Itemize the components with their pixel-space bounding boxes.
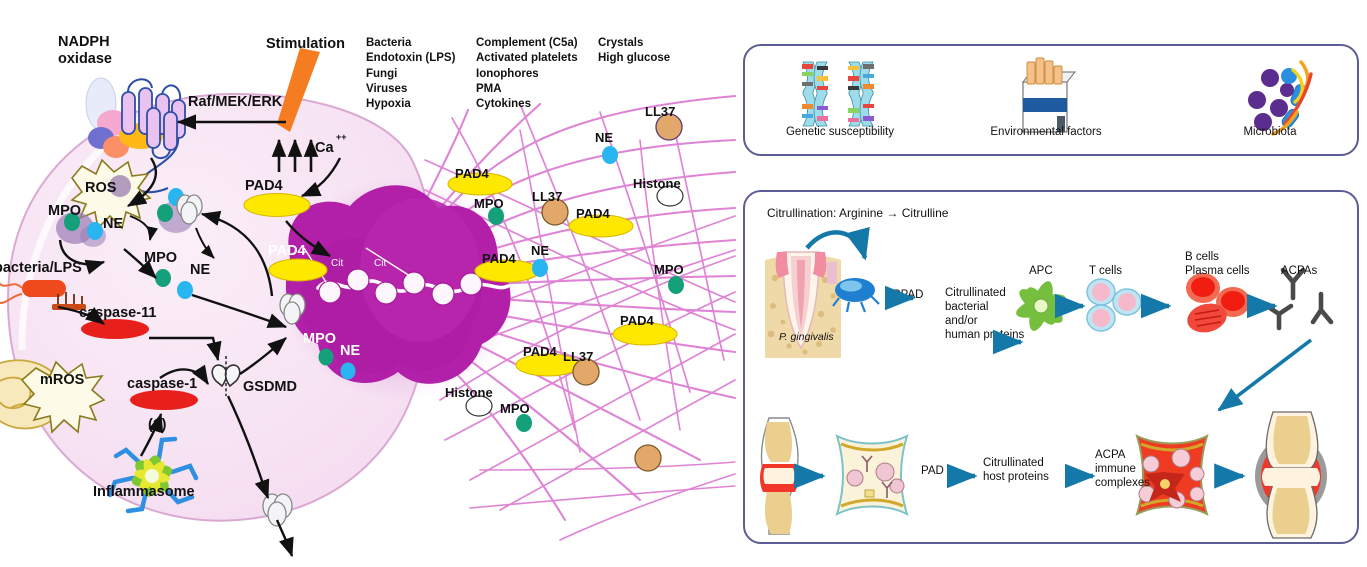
cit-label-1: Cit [331, 258, 343, 270]
calcium-label: Ca [315, 140, 334, 157]
stimuli-column-1: Bacteria Endotoxin (LPS) Fungi Viruses H… [366, 36, 476, 112]
acpa-immune-complexes-label: ACPA immune complexes [1095, 448, 1150, 490]
inflammasome-label: Inflammasome [93, 484, 195, 501]
stimulus-item: Viruses [366, 82, 476, 97]
net-label-mpo-2: MPO [654, 262, 684, 277]
mpo-dot-3 [155, 269, 171, 287]
ne-label-1: NE [103, 216, 123, 233]
pad4-cytosol-label: PAD4 [245, 178, 283, 195]
net-label-pad4-2: PAD4 [576, 206, 610, 221]
stimulus-item: Endotoxin (LPS) [366, 51, 476, 66]
net-label-pad4-1: PAD4 [455, 166, 489, 181]
mpo-label-1: MPO [48, 203, 81, 220]
ne-nucleus-label: NE [340, 343, 360, 360]
net-label-pad4-4: PAD4 [620, 313, 654, 328]
stimuli-lists: Bacteria Endotoxin (LPS) Fungi Viruses H… [366, 36, 708, 112]
citrullinated-proteins-label: Citrullinated bacterial and/or human pro… [945, 286, 1024, 342]
citrullinated-host-proteins-label: Citrullinated host proteins [983, 456, 1049, 484]
raf-mek-erk-label: Raf/MEK/ERK [188, 94, 282, 111]
ros-label: ROS [85, 180, 116, 197]
stimulus-item: Hypoxia [366, 97, 476, 112]
ppad-label: PPAD [893, 288, 923, 302]
question-mark-label: (?) [148, 417, 167, 434]
stimulus-item: Complement (C5a) [476, 36, 598, 51]
ne-label-2: NE [190, 262, 210, 279]
stimulus-item: Crystals [598, 36, 708, 51]
net-label-ll37-2: LL37 [532, 189, 562, 204]
acpas-label: ACPAs [1281, 264, 1317, 278]
cit-label-2: Cit [374, 258, 386, 270]
ne-dot-3 [177, 281, 193, 299]
healthy-joint-icon [760, 418, 798, 534]
ra-pathogenesis-panel: Genetic susceptibility Environmental fac… [735, 0, 1367, 567]
risk-factors-box: Genetic susceptibility Environmental fac… [743, 44, 1359, 156]
mpo-nucleus-dot [319, 349, 334, 366]
citrullination-title: Citrullination: Arginine → Citrulline [767, 206, 948, 220]
caspase-1-label: caspase-1 [127, 376, 197, 393]
stimulus-item: Bacteria [366, 36, 476, 51]
mpo-label-2: MPO [144, 250, 177, 267]
synovium-normal-icon [837, 436, 907, 514]
t-cells-icon [1087, 279, 1141, 331]
gsdmd-label: GSDMD [243, 379, 297, 396]
mpo-dot-2 [157, 204, 173, 222]
ne-nucleus-dot [341, 363, 356, 380]
stimulus-item: High glucose [598, 51, 708, 66]
net-label-ne-2: NE [531, 243, 549, 258]
stimuli-column-2: Complement (C5a) Activated platelets Ion… [476, 36, 598, 112]
chromosome-icon [802, 62, 874, 126]
risk-factor-label-microbiota: Microbiota [1175, 126, 1365, 138]
cigarette-pack-icon [1023, 58, 1075, 132]
risk-factor-label-environmental: Environmental factors [951, 126, 1141, 138]
stimulation-label: Stimulation [266, 36, 345, 53]
apc-label: APC [1029, 264, 1053, 278]
mpo-nucleus-label: MPO [303, 331, 336, 348]
net-label-pad4-3: PAD4 [482, 251, 516, 266]
net-label-histone-1: Histone [633, 176, 681, 191]
pad-label: PAD [921, 464, 944, 478]
pad4-nucleus-marker [269, 259, 327, 281]
microbiota-icon [1248, 62, 1311, 134]
b-plasma-cells-icon [1184, 273, 1250, 336]
net-label-ll37-3: LL37 [563, 349, 593, 364]
p-gingivalis-label: P. gingivalis [779, 330, 834, 344]
stimulus-item: Activated platelets [476, 51, 598, 66]
pad4-cytosol-marker [244, 194, 310, 217]
stimulus-item: Fungi [366, 67, 476, 82]
risk-factor-label-genetic: Genetic susceptibility [745, 126, 935, 138]
inflamed-joint-icon [1255, 412, 1327, 538]
b-plasma-cells-label: B cells Plasma cells [1185, 250, 1250, 278]
citrullination-box: Citrullination: Arginine → Citrulline [743, 190, 1359, 544]
t-cells-label: T cells [1089, 264, 1122, 278]
netosis-panel: NADPH oxidase Stimulation Raf/MEK/ERK Ca… [0, 0, 735, 567]
bacteria-lps-label: bacteria/LPS [0, 260, 82, 277]
net-label-pad4-5: PAD4 [523, 344, 557, 359]
mros-label: mROS [40, 372, 84, 389]
net-label-ne-1: NE [595, 130, 613, 145]
nadph-oxidase-label: NADPH oxidase [58, 34, 112, 68]
stimulus-item: Ionophores [476, 67, 598, 82]
acpas-icon [1267, 270, 1331, 328]
acpa-link-arrow [1219, 340, 1311, 410]
caspase-11-label: caspase-11 [79, 305, 156, 322]
net-label-histone-2: Histone [445, 385, 493, 400]
net-label-mpo-3: MPO [500, 401, 530, 416]
calcium-charge-label: ++ [336, 132, 347, 143]
ne-dot-1 [87, 222, 103, 240]
stimuli-column-3: Crystals High glucose [598, 36, 708, 112]
pad4-nucleus-label: PAD4 [268, 243, 306, 260]
net-label-mpo-1: MPO [474, 196, 504, 211]
stimulus-item: PMA [476, 82, 598, 97]
stimulus-item: Cytokines [476, 97, 598, 112]
